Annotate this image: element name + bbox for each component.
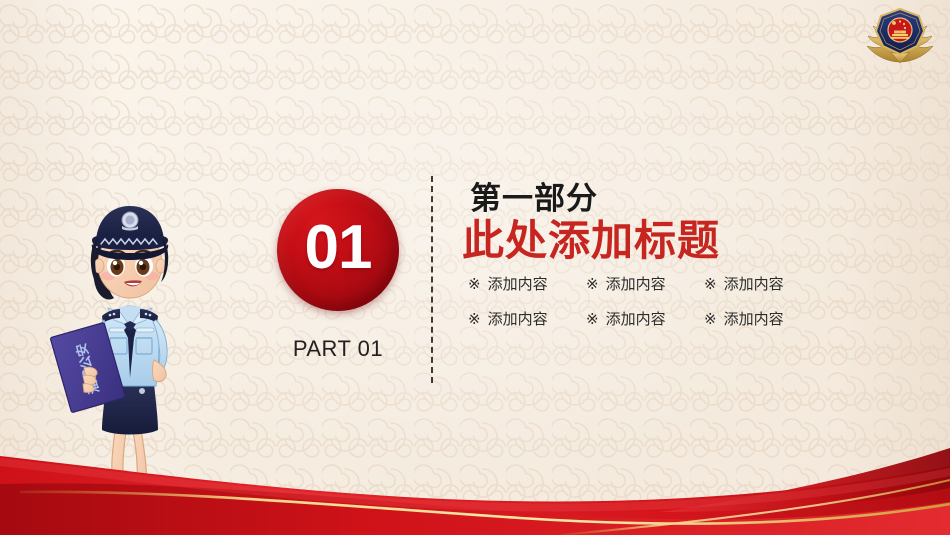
cap-emblem-icon bbox=[122, 212, 138, 231]
section-title: 此处添加标题 bbox=[462, 218, 882, 263]
bullet-label: 添加内容 bbox=[488, 308, 548, 329]
bullet-label: 添加内容 bbox=[606, 273, 666, 294]
reference-mark-icon: ※ bbox=[704, 275, 717, 293]
vertical-dashed-divider bbox=[431, 176, 433, 383]
title-text-block: 第一部分 此处添加标题 ※ 添加内容 ※ 添加内容 ※ 添加内容 ※ 添加内容 … bbox=[462, 182, 882, 329]
bullet-label: 添加内容 bbox=[724, 273, 784, 294]
bullet-item[interactable]: ※ 添加内容 bbox=[586, 273, 704, 294]
section-number: 01 bbox=[305, 217, 372, 279]
reference-mark-icon: ※ bbox=[586, 275, 599, 293]
reference-mark-icon: ※ bbox=[468, 275, 481, 293]
section-subtitle: 第一部分 bbox=[470, 182, 882, 216]
bullet-list: ※ 添加内容 ※ 添加内容 ※ 添加内容 ※ 添加内容 ※ 添加内容 ※ 添加内… bbox=[468, 273, 882, 329]
reference-mark-icon: ※ bbox=[704, 310, 717, 328]
section-number-badge[interactable]: 01 bbox=[277, 189, 399, 311]
part-label: PART 01 bbox=[277, 336, 399, 362]
bullet-label: 添加内容 bbox=[724, 308, 784, 329]
bullet-label: 添加内容 bbox=[606, 308, 666, 329]
bullet-item[interactable]: ※ 添加内容 bbox=[586, 308, 704, 329]
police-emblem-icon bbox=[861, 5, 939, 67]
bullet-item[interactable]: ※ 添加内容 bbox=[704, 308, 822, 329]
slide-canvas: 淄博公安 bbox=[0, 0, 950, 535]
bullet-item[interactable]: ※ 添加内容 bbox=[468, 273, 586, 294]
bottom-red-ribbon-decoration bbox=[0, 440, 950, 535]
bullet-item[interactable]: ※ 添加内容 bbox=[704, 273, 822, 294]
reference-mark-icon: ※ bbox=[468, 310, 481, 328]
bullet-label: 添加内容 bbox=[488, 273, 548, 294]
bullet-item[interactable]: ※ 添加内容 bbox=[468, 308, 586, 329]
reference-mark-icon: ※ bbox=[586, 310, 599, 328]
